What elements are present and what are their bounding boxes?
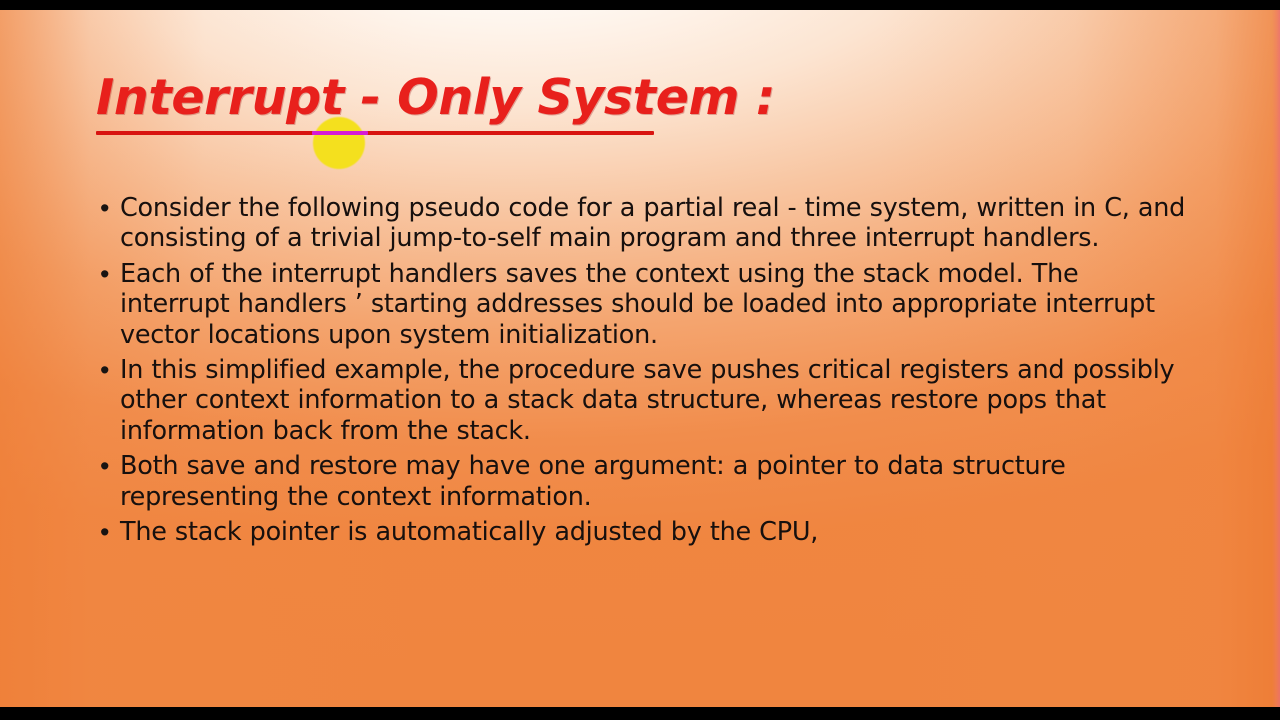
- letterbox-bar-bottom: [0, 707, 1280, 720]
- list-item-text: In this simplified example, the procedur…: [120, 355, 1192, 446]
- bullet-point-icon: •: [96, 517, 120, 547]
- bullet-point-icon: •: [96, 451, 120, 481]
- page-title: Interrupt - Only System :: [96, 72, 775, 124]
- background-right-edge-sliver: [1272, 10, 1280, 707]
- title-underline: [96, 131, 654, 135]
- list-item: • Both save and restore may have one arg…: [96, 451, 1192, 512]
- bullet-point-icon: •: [96, 193, 120, 223]
- list-item: • Consider the following pseudo code for…: [96, 193, 1192, 254]
- list-item-text: Consider the following pseudo code for a…: [120, 193, 1192, 254]
- list-item: • The stack pointer is automatically adj…: [96, 517, 1192, 547]
- title-underline-highlight-segment: [312, 131, 368, 135]
- slide-root: Interrupt - Only System : • Consider the…: [0, 0, 1280, 720]
- slide-title-block: Interrupt - Only System :: [96, 72, 736, 124]
- list-item-text: The stack pointer is automatically adjus…: [120, 517, 1192, 547]
- bullet-point-icon: •: [96, 355, 120, 385]
- list-item: • Each of the interrupt handlers saves t…: [96, 259, 1192, 350]
- slide-canvas: Interrupt - Only System : • Consider the…: [0, 10, 1280, 707]
- list-item: • In this simplified example, the proced…: [96, 355, 1192, 446]
- bullet-list: • Consider the following pseudo code for…: [96, 193, 1192, 552]
- list-item-text: Each of the interrupt handlers saves the…: [120, 259, 1192, 350]
- list-item-text: Both save and restore may have one argum…: [120, 451, 1192, 512]
- bullet-point-icon: •: [96, 259, 120, 289]
- letterbox-bar-top: [0, 0, 1280, 10]
